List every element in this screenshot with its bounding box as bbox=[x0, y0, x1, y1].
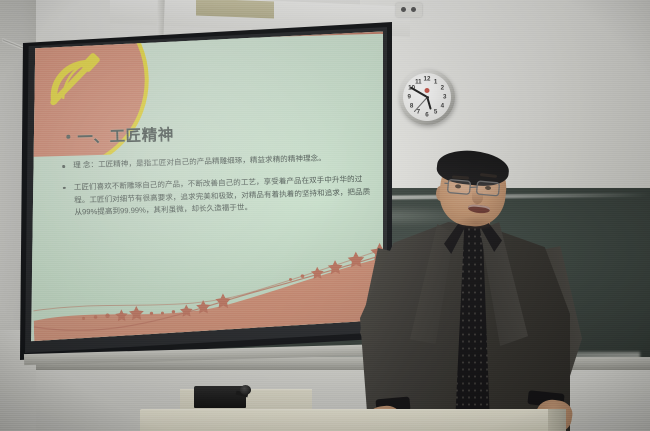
wall-socket-icon bbox=[396, 3, 422, 17]
camera-recorder-lens bbox=[240, 385, 251, 395]
slide-title: 一、工匠精神 bbox=[66, 123, 174, 148]
photo-scene: 一、工匠精神 理 念：工匠精神，是指工匠对自己的产品精雕细琢，精益求精的精神理念… bbox=[0, 0, 650, 431]
speaker-chin-shadow bbox=[456, 216, 496, 230]
podium-right-edge bbox=[548, 409, 566, 431]
hammer-and-sickle-icon bbox=[42, 53, 106, 117]
podium-front-panel bbox=[140, 409, 560, 431]
presentation-slide: 一、工匠精神 理 念：工匠精神，是指工匠对自己的产品精雕细琢，精益求精的精神理念… bbox=[31, 27, 383, 349]
projection-screen-surface: 一、工匠精神 理 念：工匠精神，是指工匠对自己的产品精雕细琢，精益求精的精神理念… bbox=[31, 27, 383, 349]
camera-recorder bbox=[194, 386, 246, 408]
ceiling-recess bbox=[196, 0, 274, 18]
slide-paragraph: 工匠们喜欢不断雕琢自己的产品，不断改善自己的工艺，享受着产品在双手中升华的过程。… bbox=[60, 173, 377, 220]
clock-face: 12 1 2 3 4 5 6 7 8 9 10 11 bbox=[403, 73, 451, 121]
clock-center-pin bbox=[426, 96, 429, 99]
speaker-person bbox=[352, 160, 592, 431]
clock-brand-logo bbox=[425, 88, 430, 93]
wall-clock: 12 1 2 3 4 5 6 7 8 9 10 11 bbox=[399, 69, 455, 125]
slide-title-bullet bbox=[66, 135, 70, 139]
slide-body: 理 念：工匠精神，是指工匠对自己的产品精雕细琢，精益求精的精神理念。 工匠们喜欢… bbox=[59, 151, 377, 229]
